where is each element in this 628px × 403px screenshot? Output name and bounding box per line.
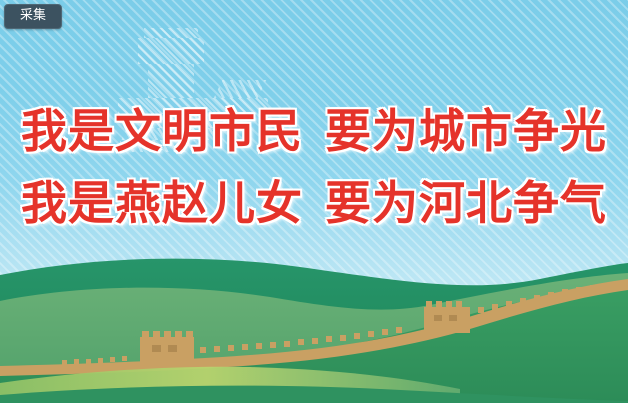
headline-line-1-right: 要为城市争光 (325, 104, 607, 158)
capture-button[interactable]: 采集 (4, 4, 62, 29)
banner-image: 我是文明市民要为城市争光 我是燕赵儿女要为河北争气 采集 (0, 0, 628, 403)
headline-line-2: 我是燕赵儿女要为河北争气 (0, 180, 628, 226)
headline-line-2-left: 我是燕赵儿女 (21, 176, 303, 230)
headline-line-1-left: 我是文明市民 (21, 104, 303, 158)
headline-line-2-right: 要为河北争气 (325, 176, 607, 230)
landscape-hills (0, 243, 628, 403)
headline-line-1: 我是文明市民要为城市争光 (0, 108, 628, 154)
